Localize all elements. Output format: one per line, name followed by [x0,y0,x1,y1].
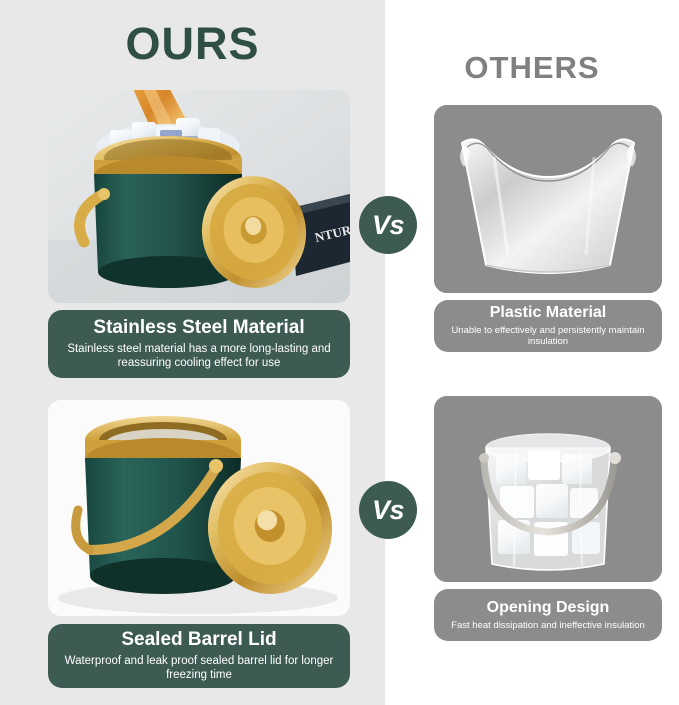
ours-caption-sealed-barrel-lid: Sealed Barrel Lid Waterproof and leak pr… [48,624,350,688]
caption-subtitle: Fast heat dissipation and ineffective in… [445,620,651,632]
caption-title: Stainless Steel Material [93,318,304,339]
others-heading: OTHERS [385,50,679,86]
others-photo-opening-design-bucket [434,396,662,582]
green-ice-bucket-illustration: NTURY [48,90,350,303]
green-bucket-with-lid-illustration [48,400,350,616]
ours-photo-sealed-barrel-lid [48,400,350,616]
vs-badge-row-1: Vs [359,196,417,254]
caption-subtitle: Waterproof and leak proof sealed barrel … [48,654,350,682]
vs-badge-row-2: Vs [359,481,417,539]
others-caption-plastic-material: Plastic Material Unable to effectively a… [434,300,662,352]
others-caption-opening-design: Opening Design Fast heat dissipation and… [434,589,662,641]
caption-title: Plastic Material [490,304,607,322]
ours-caption-stainless-steel: Stainless Steel Material Stainless steel… [48,310,350,378]
comparison-infographic: OURS OTHERS [0,0,679,705]
ours-heading: OURS [0,18,385,70]
caption-title: Opening Design [487,599,610,617]
caption-subtitle: Unable to effectively and persistently m… [434,325,662,348]
caption-title: Sealed Barrel Lid [121,630,276,651]
clear-plastic-ice-bucket-illustration [434,396,662,582]
ours-photo-stainless-steel-bucket: NTURY [48,90,350,303]
caption-subtitle: Stainless steel material has a more long… [48,342,350,370]
others-photo-plastic-bucket [434,105,662,293]
clear-plastic-boat-bucket-illustration [434,105,662,293]
